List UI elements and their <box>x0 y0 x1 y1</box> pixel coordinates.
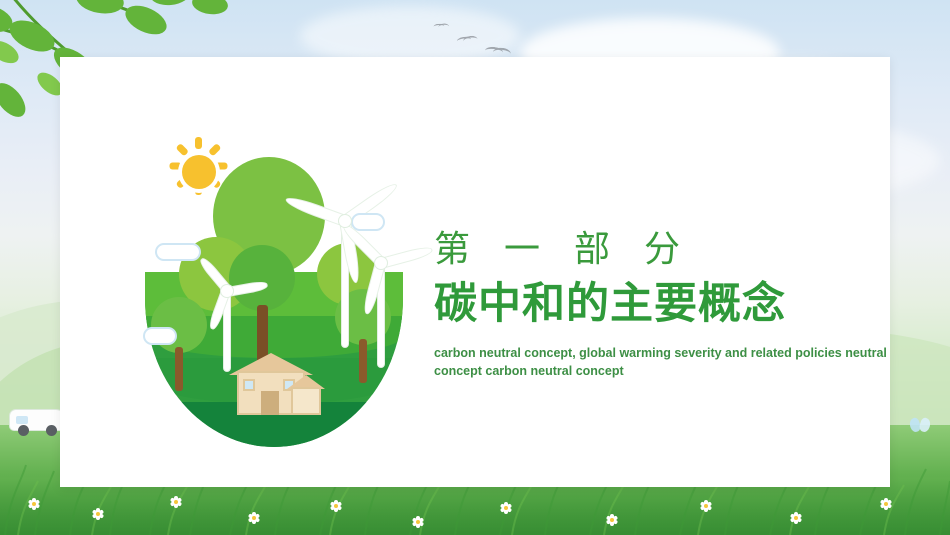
bird-icon <box>456 36 471 45</box>
slide-text-block: 第 一 部 分 碳中和的主要概念 carbon neutral concept,… <box>434 227 914 381</box>
sun-icon <box>208 143 221 156</box>
sun-icon <box>176 143 189 156</box>
daisy-flower <box>330 500 342 512</box>
cloud-icon <box>143 327 177 345</box>
cloud-icon <box>351 213 385 231</box>
house-icon <box>231 353 311 413</box>
daisy-flower <box>790 512 802 524</box>
page-title: 碳中和的主要概念 <box>434 280 914 329</box>
daisy-flower <box>248 512 260 524</box>
daisy-flower <box>606 514 618 526</box>
butterfly-icon <box>910 418 932 436</box>
daisy-flower <box>880 498 892 510</box>
content-card: 第 一 部 分 碳中和的主要概念 carbon neutral concept,… <box>60 57 890 487</box>
bird-icon <box>485 46 504 57</box>
slide-canvas: 第 一 部 分 碳中和的主要概念 carbon neutral concept,… <box>0 0 950 535</box>
eco-earth-illustration <box>135 117 420 447</box>
daisy-flower <box>170 496 182 508</box>
bird-icon <box>433 24 444 30</box>
daisy-flower <box>412 516 424 528</box>
cloud-icon <box>155 243 201 261</box>
daisy-flower <box>700 500 712 512</box>
daisy-flower <box>92 508 104 520</box>
subtitle-english: carbon neutral concept, global warming s… <box>434 344 904 382</box>
sun-icon <box>195 137 202 149</box>
sun-icon <box>170 163 182 170</box>
section-label: 第 一 部 分 <box>434 227 914 270</box>
daisy-flower <box>28 498 40 510</box>
wind-turbine-icon <box>331 257 431 367</box>
sun-icon <box>182 155 216 189</box>
sun-icon <box>216 163 228 170</box>
daisy-flower <box>500 502 512 514</box>
